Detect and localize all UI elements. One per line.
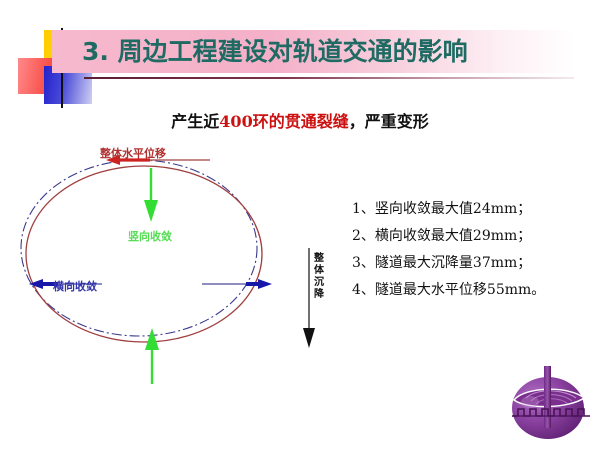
label-horizontal-shift: 整体水平位移 [100, 145, 166, 161]
subtitle-suffix: ，严重变形 [349, 112, 429, 131]
measurement-list: 1、竖向收敛最大值24mm； 2、横向收敛最大值29mm； 3、隧道最大沉降量3… [352, 198, 592, 306]
horizontal-convergence-arrow-right [202, 279, 272, 289]
vertical-convergence-arrow-top [144, 168, 158, 222]
subtitle: 产生近400环的贯通裂缝，严重变形 [0, 108, 600, 132]
slide-canvas: 3. 周边工程建设对轨道交通的影响 产生近400环的贯通裂缝，严重变形 [0, 0, 600, 450]
label-vertical-convergence: 竖向收敛 [128, 228, 172, 244]
deformed-section-ellipse [26, 166, 262, 342]
tunnel-deformation-diagram [10, 138, 340, 388]
logo-pole [544, 366, 551, 428]
title-underline [84, 77, 574, 79]
list-item: 4、隧道最大水平位移55mm。 [352, 279, 592, 299]
label-overall-settlement: 整体沉降 [313, 253, 325, 301]
purple-globe-logo [506, 358, 592, 444]
page-title: 3. 周边工程建设对轨道交通的影响 [82, 33, 552, 71]
list-item: 2、横向收敛最大值29mm； [352, 225, 592, 245]
list-item: 3、隧道最大沉降量37mm； [352, 252, 592, 272]
list-item: 1、竖向收敛最大值24mm； [352, 198, 592, 218]
measurement-list-items: 1、竖向收敛最大值24mm； 2、横向收敛最大值29mm； 3、隧道最大沉降量3… [352, 198, 592, 299]
label-horizontal-convergence: 横向收敛 [53, 278, 97, 294]
original-section-ellipse [21, 160, 257, 336]
subtitle-highlight: 400环的贯通裂缝 [219, 112, 348, 131]
logo-highlight [521, 396, 539, 408]
subtitle-prefix: 产生近 [171, 112, 219, 131]
vertical-convergence-arrow-bottom [145, 328, 159, 384]
